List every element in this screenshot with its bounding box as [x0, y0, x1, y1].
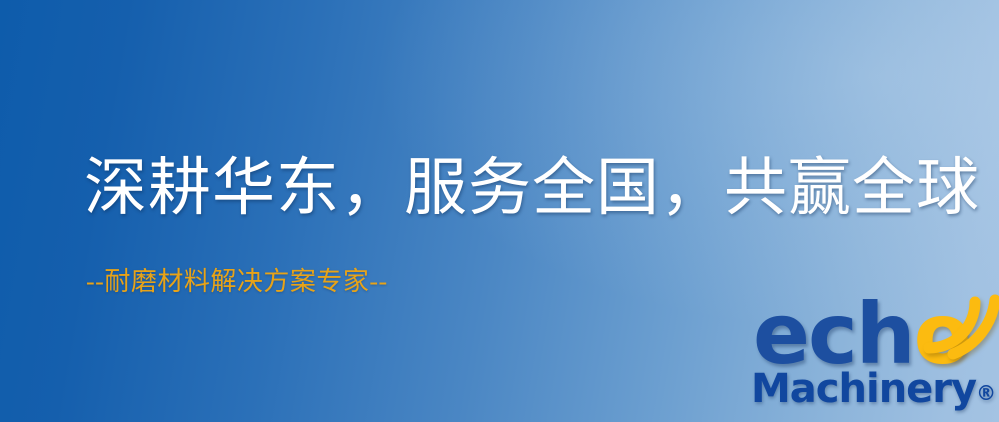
- logo-tagline: Machinery®: [751, 366, 996, 416]
- registered-trademark-icon: ®: [976, 381, 996, 405]
- company-logo[interactable]: echo Machinery®: [745, 292, 999, 422]
- promo-banner: 深耕华东，服务全国，共赢全球 --耐磨材料解决方案专家-- echo Machi…: [0, 0, 999, 422]
- signal-waves-icon: [923, 292, 999, 364]
- banner-subtitle: --耐磨材料解决方案专家--: [86, 266, 388, 298]
- banner-headline: 深耕华东，服务全国，共赢全球: [84, 152, 980, 224]
- logo-tagline-text: Machinery: [751, 366, 976, 412]
